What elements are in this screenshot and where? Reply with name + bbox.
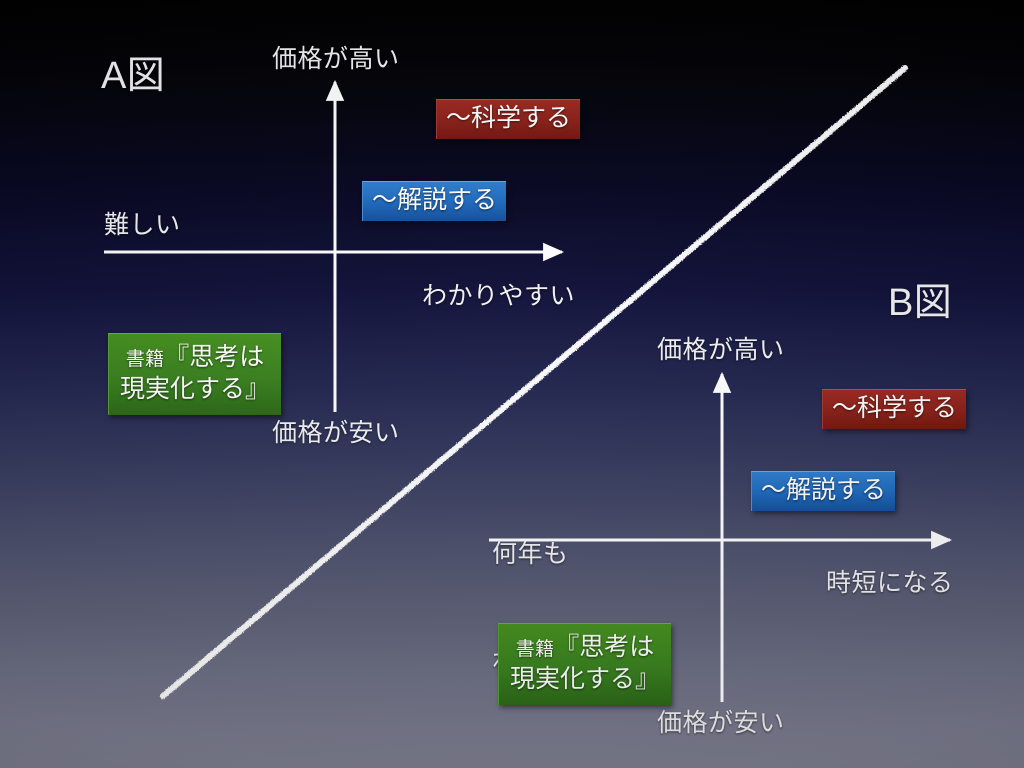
figure-b-book-tag-prefix: 書籍 — [516, 639, 554, 660]
figure-b: B図 価格が高い 価格が安い 何年も わからない 時短になる 〜科学する 〜解説… — [0, 0, 1024, 768]
figure-b-book-tag[interactable]: 書籍『思考は 現実化する』 — [498, 623, 671, 705]
figure-b-book-tag-title-start: 『思考は — [554, 633, 654, 661]
figure-b-title: B図 — [888, 271, 952, 326]
figure-b-science-tag[interactable]: 〜科学する — [822, 389, 966, 429]
figure-b-axis-bottom-label: 価格が安い — [657, 703, 785, 739]
figure-b-axis-right-label: 時短になる — [826, 563, 954, 599]
figure-b-axis-left-label: 何年も わからない — [492, 466, 620, 750]
figure-b-axis-top-label: 価格が高い — [657, 330, 785, 366]
figure-b-book-tag-line1: 書籍『思考は — [510, 631, 660, 663]
figure-b-axis-left-label-line1: 何年も — [492, 537, 620, 573]
figure-b-explain-tag[interactable]: 〜解説する — [751, 471, 895, 511]
figure-b-book-tag-line2: 現実化する』 — [510, 663, 660, 695]
slide-canvas: A図 価格が高い 価格が安い 難しい わかりやすい 〜科学する 〜解説する 書籍… — [0, 0, 1024, 768]
